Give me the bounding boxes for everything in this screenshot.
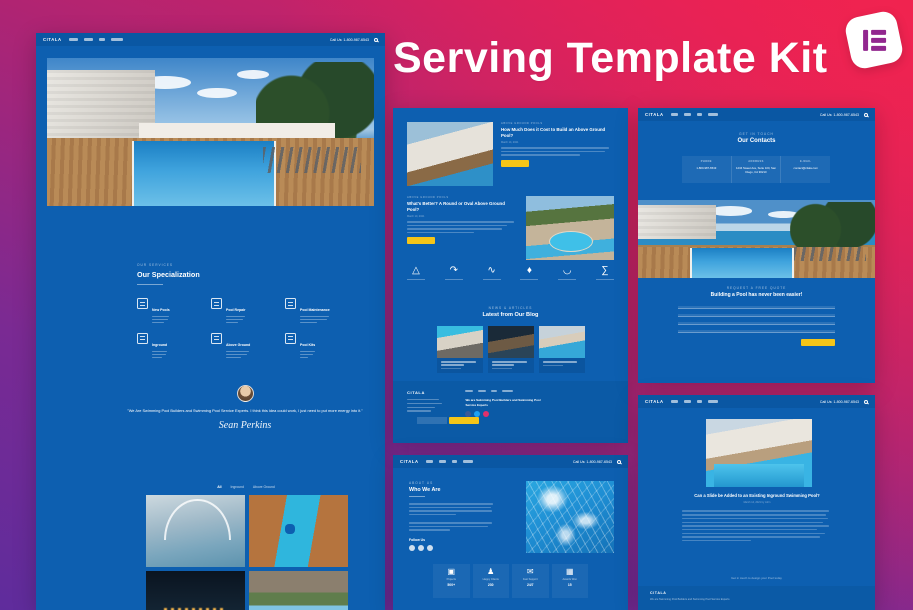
contact-info-box: PHONE 1-800-987-6543 ADDRESS 1234 Sweet … — [682, 156, 830, 183]
about-title: Who We Are — [409, 487, 495, 493]
article-block[interactable]: ABOVE GROUND POOLS What's Better? A Roun… — [407, 196, 614, 260]
article-heading[interactable]: How Much Does it Cost to Build an Above … — [501, 127, 614, 138]
header-phone[interactable]: Call Us: 1-800-987-6543 — [820, 113, 859, 117]
template-preview-single-post[interactable]: CITALA Call Us: 1-800-987-6543 Can a Sli… — [638, 395, 875, 610]
pool-maintenance-icon — [285, 298, 296, 309]
pool-kit-icon — [285, 333, 296, 344]
clients-icon: ♟ — [473, 568, 510, 576]
site-nav[interactable] — [671, 400, 718, 403]
form-field-message[interactable] — [678, 330, 835, 333]
stat-card-support[interactable]: ✉ Fast Support 24/7 — [512, 564, 549, 598]
header-phone[interactable]: Call Us: 1-800-987-6543 — [330, 38, 369, 42]
blog-card[interactable] — [539, 326, 585, 373]
wave-logo-icon: ∿ — [483, 266, 501, 280]
subscribe-button[interactable] — [449, 417, 479, 424]
search-icon[interactable] — [374, 38, 378, 42]
site-logo[interactable]: CITALA — [43, 37, 62, 42]
post-featured-image-villa-pool-evening — [706, 419, 812, 487]
template-preview-homepage[interactable]: CITALA Call Us: 1-800-987-6543 OUR SERVI… — [36, 33, 385, 610]
article-image-oval-garden-pool — [526, 196, 614, 260]
site-nav[interactable] — [426, 460, 473, 463]
footer-links[interactable]: We are Swimming Pool Builders and Swimmi… — [465, 390, 551, 417]
inground-icon — [137, 333, 148, 344]
newsletter-input[interactable] — [417, 417, 447, 424]
template-preview-about[interactable]: CITALA Call Us: 1-800-987-6543 ABOUT US … — [393, 455, 628, 610]
form-field-email[interactable] — [678, 314, 835, 317]
search-icon[interactable] — [864, 400, 868, 404]
twitter-icon[interactable] — [418, 545, 424, 551]
article-eyebrow: ABOVE GROUND POOLS — [407, 196, 518, 199]
gallery-filter-all[interactable]: All — [217, 485, 221, 489]
above-ground-icon — [211, 333, 222, 344]
contact-column-email[interactable]: E-MAIL contact@citala.com — [781, 156, 830, 183]
site-footer: CITALA We are Swimming Pool Builders and… — [638, 586, 875, 610]
nav-item-contacts[interactable] — [708, 400, 718, 403]
specialization-grid: New Pools Pool Repair Pool Maintenance I… — [137, 298, 353, 360]
testimonial: "We Are Swimming Pool Builders and Swimm… — [124, 385, 366, 431]
site-header: CITALA Call Us: 1-800-987-6543 — [36, 33, 385, 46]
nav-item-about[interactable] — [439, 460, 446, 463]
contact-column-phone[interactable]: PHONE 1-800-987-6543 — [682, 156, 732, 183]
blog-card-image-pool-party-photo — [437, 326, 483, 358]
nav-item-home[interactable] — [69, 38, 78, 41]
partner-logos-strip: △ ↷ ∿ ♦ ◡ ∑ — [407, 266, 614, 280]
quote-form[interactable] — [678, 306, 835, 333]
blog-card-image-modern-villa-photo — [488, 326, 534, 358]
nav-item-blog[interactable] — [452, 460, 457, 463]
footer-newsletter[interactable] — [417, 417, 479, 424]
testimonial-quote: "We Are Swimming Pool Builders and Swimm… — [124, 408, 366, 414]
gallery-filter-above-ground[interactable]: Above Ground — [253, 485, 275, 489]
gallery-filters[interactable]: All Inground Above Ground — [146, 485, 346, 489]
gallery-image-pool-aerial-lounge[interactable] — [249, 495, 348, 567]
contacts-hero-image — [638, 200, 875, 278]
article-heading[interactable]: What's Better? A Round or Oval Above Gro… — [407, 201, 518, 212]
site-header: CITALA Call Us: 1-800-987-6543 — [393, 455, 628, 468]
contact-column-address[interactable]: ADDRESS 1234 Sweet Ave, Suite 100, San D… — [732, 156, 782, 183]
site-nav[interactable] — [671, 113, 718, 116]
quote-form-section: REQUEST A FREE QUOTE Building a Pool has… — [638, 286, 875, 346]
instagram-icon[interactable] — [483, 411, 489, 417]
crescent-logo-icon: ↷ — [445, 266, 463, 280]
site-footer: CITALA We are Swimming Pool Builders and… — [393, 381, 628, 443]
nav-item-home[interactable] — [671, 113, 678, 116]
awards-icon: ▦ — [552, 568, 589, 576]
gallery-image-pool-mountain-resort[interactable] — [249, 571, 348, 610]
droplet-logo-icon: ♦ — [520, 266, 538, 280]
footer-tagline: We are Swimming Pool Builders and Swimmi… — [465, 398, 551, 407]
spec-item[interactable]: New Pools — [137, 298, 205, 325]
pool-ladder-icon — [137, 298, 148, 309]
site-header: CITALA Call Us: 1-800-987-6543 — [638, 108, 875, 121]
contacts-header: GET IN TOUCH Our Contacts — [638, 132, 875, 144]
latest-blog-section: NEWS & ARTICLES Latest from Our Blog — [393, 306, 628, 373]
about-eyebrow: ABOUT US — [409, 481, 495, 485]
article-eyebrow: ABOVE GROUND POOLS — [501, 122, 614, 125]
nav-item-blog[interactable] — [697, 113, 702, 116]
spec-item[interactable]: Above Ground — [211, 333, 279, 360]
template-preview-services[interactable]: ABOVE GROUND POOLS How Much Does it Cost… — [393, 108, 628, 443]
post-cta-text[interactable]: Get in touch to design your Pool today — [638, 576, 875, 580]
specialization-header: OUR SERVICES Our Specialization — [137, 263, 200, 285]
search-icon[interactable] — [617, 460, 621, 464]
gallery-filter-inground[interactable]: Inground — [231, 485, 244, 489]
divider — [137, 284, 163, 285]
nav-item-contacts[interactable] — [708, 113, 718, 116]
header-phone[interactable]: Call Us: 1-800-987-6543 — [820, 400, 859, 404]
form-field-name[interactable] — [678, 306, 835, 309]
contacts-eyebrow: GET IN TOUCH — [638, 132, 875, 136]
nav-item-contacts[interactable] — [463, 460, 473, 463]
pool-repair-icon — [211, 298, 222, 309]
section-eyebrow: OUR SERVICES — [137, 263, 200, 267]
site-header: CITALA Call Us: 1-800-987-6543 — [638, 395, 875, 408]
footer-tagline: We are Swimming Pool Builders and Swimmi… — [650, 598, 863, 601]
about-text-block: ABOUT US Who We Are Follow Us — [409, 481, 495, 551]
projects-icon: ▣ — [433, 568, 470, 576]
form-title: Building a Pool has never been easier! — [678, 292, 835, 298]
form-eyebrow: REQUEST A FREE QUOTE — [678, 286, 835, 290]
spec-item[interactable]: Pool Maintenance — [285, 298, 353, 325]
stat-card-clients[interactable]: ♟ Happy Clients 230 — [473, 564, 510, 598]
nav-item-about[interactable] — [84, 38, 93, 41]
facebook-icon[interactable] — [409, 545, 415, 551]
gallery-grid — [146, 495, 348, 610]
avatar — [237, 385, 254, 402]
nav-item-home[interactable] — [426, 460, 433, 463]
site-nav[interactable] — [69, 38, 123, 41]
post-meta: March 14, 2021 by John — [682, 501, 832, 504]
spec-item[interactable]: Inground — [137, 333, 205, 360]
contacts-title: Our Contacts — [638, 138, 875, 144]
bridge-logo-icon: ◡ — [558, 266, 576, 280]
article-block[interactable]: ABOVE GROUND POOLS How Much Does it Cost… — [407, 122, 614, 186]
stats-row: ▣ Projects 500+ ♟ Happy Clients 230 ✉ Fa… — [433, 564, 588, 598]
nav-item-home[interactable] — [671, 400, 678, 403]
footer-brand: CITALA — [407, 390, 447, 414]
hero-image-pool — [47, 58, 374, 206]
site-logo[interactable]: CITALA — [400, 459, 419, 464]
template-preview-contacts[interactable]: CITALA Call Us: 1-800-987-6543 GET IN TO… — [638, 108, 875, 383]
article-date: March 10, 2021 — [407, 215, 518, 218]
stat-card-projects[interactable]: ▣ Projects 500+ — [433, 564, 470, 598]
page-title: Serving Template Kit — [393, 36, 833, 81]
spec-item[interactable]: Pool Repair — [211, 298, 279, 325]
gallery-image-pool-night-lit[interactable] — [146, 571, 245, 610]
article-date: March 14, 2021 — [501, 141, 614, 144]
read-more-button[interactable] — [407, 237, 435, 244]
nav-item-contacts[interactable] — [111, 38, 123, 41]
spec-item[interactable]: Pool Kits — [285, 333, 353, 360]
article-image-modern-house-pool — [407, 122, 493, 186]
post-paragraph — [682, 510, 832, 541]
blog-card-image-poolside-deck-photo — [539, 326, 585, 358]
section-title: Our Specialization — [137, 270, 200, 279]
about-paragraph — [409, 503, 495, 531]
send-request-button[interactable] — [801, 339, 835, 346]
testimonial-signature: Sean Perkins — [124, 420, 366, 431]
blog-card[interactable] — [488, 326, 534, 373]
arch-logo-icon: △ — [407, 266, 425, 280]
blog-card[interactable] — [437, 326, 483, 373]
stat-card-awards[interactable]: ▦ Awards Won 15 — [552, 564, 589, 598]
support-icon: ✉ — [512, 568, 549, 576]
header-phone[interactable]: Call Us: 1-800-987-6543 — [573, 460, 612, 464]
post-body: Can a Slide be Added to an Existing Ingr… — [682, 493, 832, 544]
site-logo[interactable]: CITALA — [645, 112, 664, 117]
search-icon[interactable] — [864, 113, 868, 117]
site-logo[interactable]: CITALA — [645, 399, 664, 404]
follow-us-label: Follow Us — [409, 538, 495, 542]
block-logo-icon: ∑ — [596, 266, 614, 280]
form-field-phone[interactable] — [678, 322, 835, 325]
instagram-icon[interactable] — [427, 545, 433, 551]
blog-eyebrow: NEWS & ARTICLES — [393, 306, 628, 310]
about-image-pool-water-texture — [526, 481, 614, 553]
gallery-image-pool-arch-sunset[interactable] — [146, 495, 245, 567]
nav-item-blog[interactable] — [697, 400, 702, 403]
read-more-button[interactable] — [501, 160, 529, 167]
blog-title: Latest from Our Blog — [393, 312, 628, 318]
nav-item-about[interactable] — [684, 113, 691, 116]
post-heading: Can a Slide be Added to an Existing Ingr… — [682, 493, 832, 498]
nav-item-blog[interactable] — [99, 38, 105, 41]
nav-item-about[interactable] — [684, 400, 691, 403]
